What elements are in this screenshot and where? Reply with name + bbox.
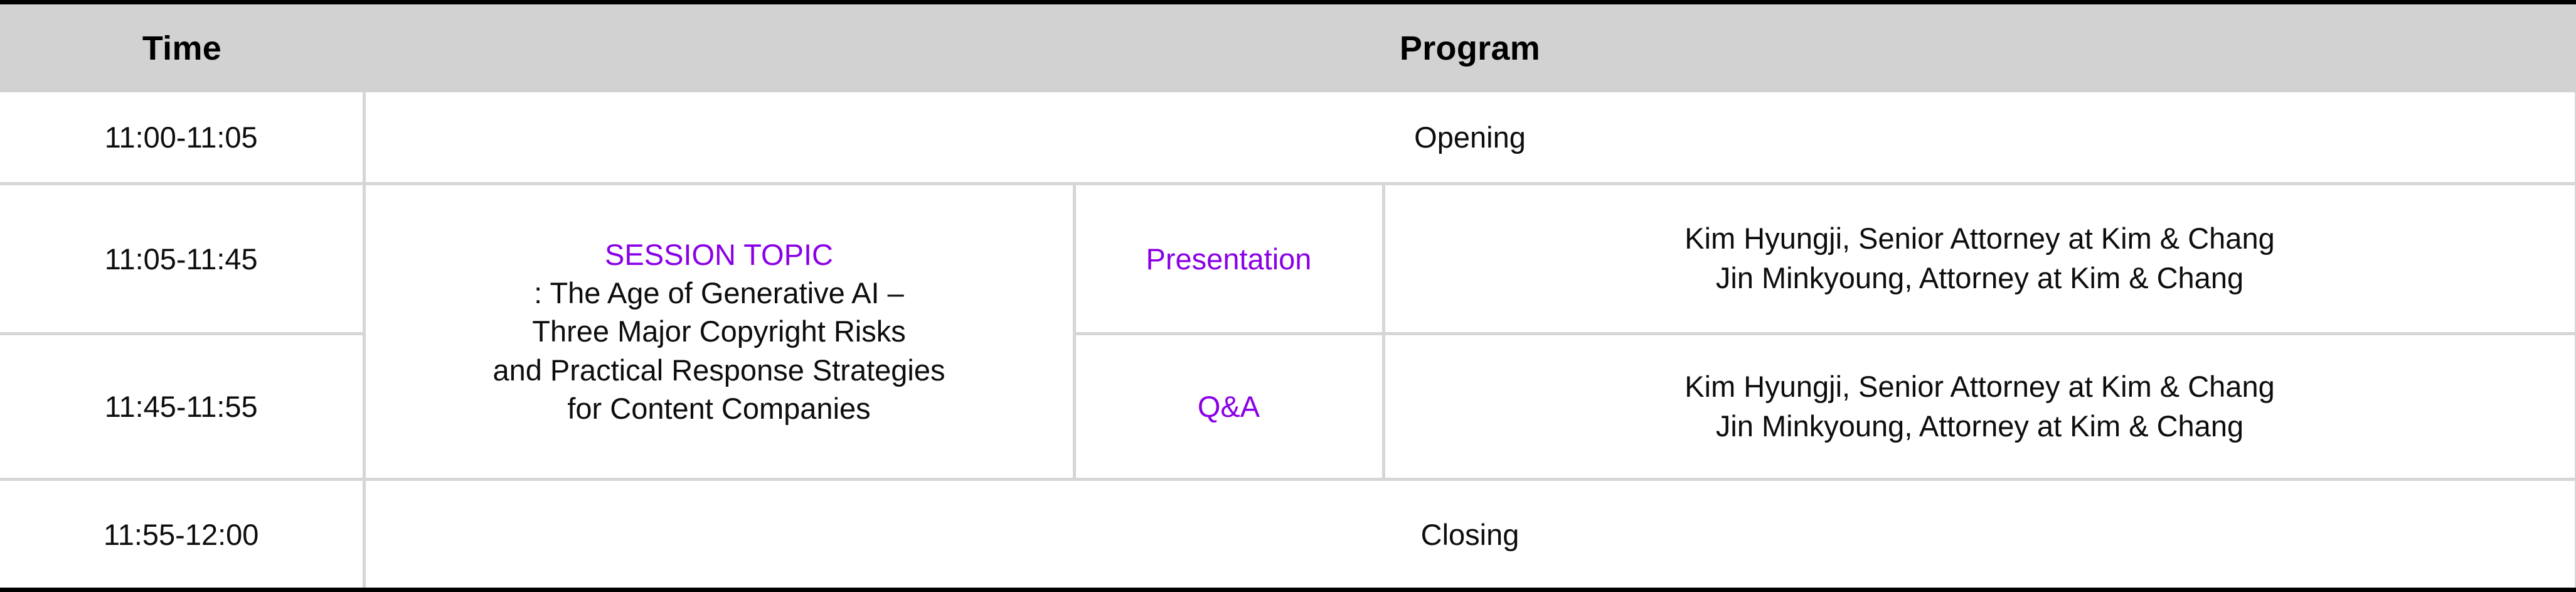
table-row-opening: 11:00-11:05 Opening	[0, 92, 2576, 184]
table-row-closing: 11:55-12:00 Closing	[0, 480, 2576, 590]
session-topic-cell: SESSION TOPIC : The Age of Generative AI…	[364, 184, 1074, 480]
time-cell-presentation: 11:05-11:45	[0, 184, 364, 334]
speakers-cell-presentation: Kim Hyungji, Senior Attorney at Kim & Ch…	[1383, 184, 2576, 334]
column-header-time: Time	[0, 3, 364, 93]
session-topic-line-4: for Content Companies	[366, 389, 1073, 428]
program-kind-presentation: Presentation	[1074, 184, 1383, 334]
speaker-name-2-qa: Jin Minkyoung, Attorney at Kim & Chang	[1385, 407, 2575, 446]
speaker-name-1-qa: Kim Hyungji, Senior Attorney at Kim & Ch…	[1385, 367, 2575, 407]
speakers-cell-qa: Kim Hyungji, Senior Attorney at Kim & Ch…	[1383, 334, 2576, 480]
program-kind-label-qa: Q&A	[1198, 390, 1260, 423]
session-topic-line-3: and Practical Response Strategies	[366, 351, 1073, 389]
speaker-name-2-presentation: Jin Minkyoung, Attorney at Kim & Chang	[1385, 259, 2575, 298]
program-kind-qa: Q&A	[1074, 334, 1383, 480]
session-topic-line-2: Three Major Copyright Risks	[366, 312, 1073, 350]
time-cell-qa: 11:45-11:55	[0, 334, 364, 480]
program-cell-closing: Closing	[364, 480, 2576, 590]
table-header-row: Time Program	[0, 3, 2576, 93]
session-topic-label: SESSION TOPIC	[366, 235, 1073, 274]
table-row-presentation: 11:05-11:45 SESSION TOPIC : The Age of G…	[0, 184, 2576, 334]
session-topic-line-1: : The Age of Generative AI –	[366, 274, 1073, 312]
time-cell-closing: 11:55-12:00	[0, 480, 364, 590]
program-cell-opening: Opening	[364, 92, 2576, 184]
column-header-program: Program	[364, 3, 2576, 93]
program-kind-label-presentation: Presentation	[1146, 242, 1312, 276]
program-schedule-table: Time Program 11:00-11:05 Opening 11:05-1…	[0, 0, 2576, 592]
time-cell-opening: 11:00-11:05	[0, 92, 364, 184]
speaker-name-1-presentation: Kim Hyungji, Senior Attorney at Kim & Ch…	[1385, 219, 2575, 259]
